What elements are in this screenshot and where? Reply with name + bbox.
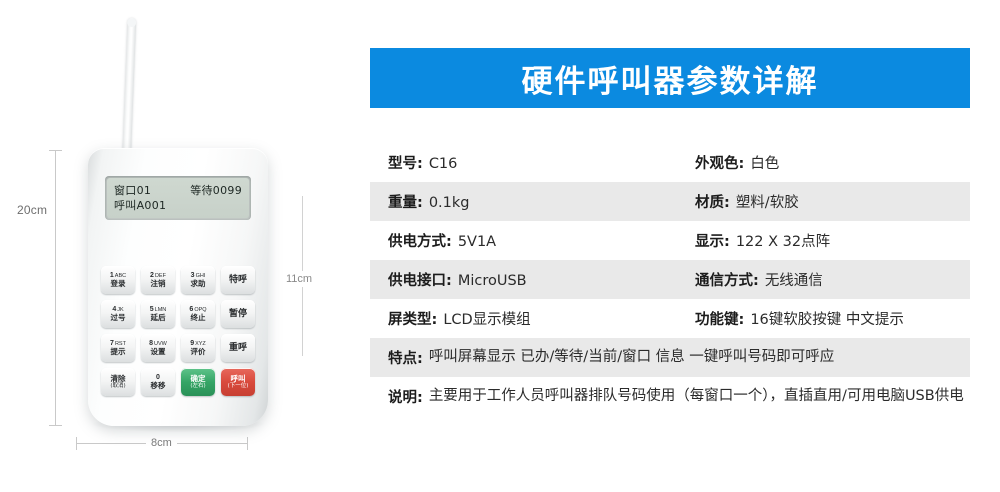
spec-row: 重量:0.1kg材质:塑料/软胶 [370,182,970,221]
height-dimension-line [55,150,56,425]
key-过号[interactable]: 4JK过号 [101,300,135,328]
key-重呼[interactable]: 重呼 [221,334,255,362]
spec-3-right-value: 无线通信 [765,269,823,290]
spec-1-right-value: 塑料/软胶 [736,191,799,212]
key-确定[interactable]: 确定(左右) [181,368,215,396]
spec-2-left: 供电方式:5V1A [388,230,695,251]
key-呼叫[interactable]: 呼叫(下一位) [221,368,255,396]
spec-3-left: 供电接口:MicroUSB [388,269,695,290]
spec-2-right-value: 122 X 32点阵 [736,230,830,251]
spec-3-left-value: MicroUSB [458,273,527,289]
spec-3-left-label: 供电接口: [388,269,452,290]
spec-1-right-label: 材质: [695,191,730,212]
height-dimension-tick-bottom [49,425,62,426]
key-label: 注销 [151,279,166,288]
spec-row-description: 说明:主要用于工作人员呼叫器排队号码使用（每窗口一个），直插直用/可用电脑USB… [370,377,970,433]
height-dimension-label: 20cm [14,201,50,219]
key-label: 特呼 [229,274,247,286]
spec-description-value: 主要用于工作人员呼叫器排队号码使用（每窗口一个），直插直用/可用电脑USB供电 [429,386,964,407]
key-label: 呼叫 [231,374,246,383]
key-设置[interactable]: 8UVW设置 [141,334,175,362]
spec-feature-label: 特点: [388,347,423,368]
spec-2-right-label: 显示: [695,230,730,251]
page-title: 硬件呼叫器参数详解 [522,56,819,101]
spec-description: 说明:主要用于工作人员呼叫器排队号码使用（每窗口一个），直插直用/可用电脑USB… [388,386,970,407]
antenna-cap [127,18,136,27]
width-dimension-tick-right [247,437,248,450]
spec-0-left: 型号:C16 [388,152,695,173]
spec-4-right-value: 16键软胶按键 中文提示 [750,308,904,329]
key-sublabel: (取消) [110,383,125,390]
spec-row-feature: 特点:呼叫屏幕显示 已办/等待/当前/窗口 信息 一键呼叫号码即可呼应 [370,338,970,377]
spec-4-left: 屏类型:LCD显示模组 [388,308,695,329]
spec-0-right-label: 外观色: [695,152,744,173]
spec-0-left-value: C16 [429,156,458,172]
key-label: 移移 [151,381,166,390]
spec-1-right: 材质:塑料/软胶 [695,191,970,212]
key-登录[interactable]: 1ABC登录 [101,266,135,294]
key-label: 重呼 [229,342,247,354]
lcd-screen-frame: 窗口01 等待0099 呼叫A001 [105,176,251,220]
depth-dimension-label: 11cm [283,271,315,287]
key-sublabel: (下一位) [228,383,249,390]
spec-feature: 特点:呼叫屏幕显示 已办/等待/当前/窗口 信息 一键呼叫号码即可呼应 [388,347,970,368]
key-移移[interactable]: 0移移 [141,368,175,396]
spec-4-left-value: LCD显示模组 [443,308,530,329]
spec-table: 型号:C16外观色:白色重量:0.1kg材质:塑料/软胶供电方式:5V1A显示:… [370,143,970,433]
key-label: 设置 [151,347,166,356]
key-终止[interactable]: 6OPQ终止 [181,300,215,328]
key-label: 过号 [111,313,126,322]
key-sublabel: (左右) [190,383,205,390]
key-label: 清除 [111,374,126,383]
spec-4-left-label: 屏类型: [388,308,437,329]
spec-2-right: 显示:122 X 32点阵 [695,230,970,251]
spec-3-right: 通信方式:无线通信 [695,269,970,290]
key-label: 登录 [111,279,126,288]
key-label: 提示 [111,347,126,356]
spec-0-right-value: 白色 [750,152,779,173]
key-延后[interactable]: 5LMN延后 [141,300,175,328]
key-label: 评价 [191,347,206,356]
spec-description-label: 说明: [388,386,423,407]
key-注销[interactable]: 2DEF注销 [141,266,175,294]
spec-2-left-label: 供电方式: [388,230,452,251]
lcd-line-1: 窗口01 等待0099 [114,184,242,197]
key-特呼[interactable]: 特呼 [221,266,255,294]
lcd-window-text: 窗口01 [114,184,151,197]
spec-panel: 硬件呼叫器参数详解 型号:C16外观色:白色重量:0.1kg材质:塑料/软胶供电… [370,0,970,492]
spec-1-left-value: 0.1kg [429,195,470,211]
spec-1-left: 重量:0.1kg [388,191,695,212]
lcd-calling-text: 呼叫A001 [114,199,166,212]
spec-row: 供电接口:MicroUSB通信方式:无线通信 [370,260,970,299]
width-dimension-label: 8cm [146,436,177,450]
key-label: 延后 [151,313,166,322]
key-评价[interactable]: 9XYZ评价 [181,334,215,362]
product-photo-panel: 20cm 11cm 8cm 窗口01 等待0099 呼叫A001 1ABC登录2… [0,0,350,492]
spec-2-left-value: 5V1A [458,234,496,250]
product-spec-page: 20cm 11cm 8cm 窗口01 等待0099 呼叫A001 1ABC登录2… [0,0,1000,492]
height-dimension-tick-top [49,150,62,151]
spec-4-right-label: 功能键: [695,308,744,329]
page-title-banner: 硬件呼叫器参数详解 [370,48,970,108]
spec-feature-value: 呼叫屏幕显示 已办/等待/当前/窗口 信息 一键呼叫号码即可呼应 [429,347,834,368]
key-label: 求助 [191,279,206,288]
spec-row: 供电方式:5V1A显示:122 X 32点阵 [370,221,970,260]
lcd-line-2: 呼叫A001 [114,199,242,212]
key-label: 确定 [191,374,206,383]
lcd-screen: 窗口01 等待0099 呼叫A001 [107,178,249,218]
spec-4-right: 功能键:16键软胶按键 中文提示 [695,308,970,329]
spec-row: 型号:C16外观色:白色 [370,143,970,182]
key-提示[interactable]: 7RST提示 [101,334,135,362]
spec-row: 屏类型:LCD显示模组功能键:16键软胶按键 中文提示 [370,299,970,338]
spec-0-right: 外观色:白色 [695,152,970,173]
key-label: 终止 [191,313,206,322]
spec-3-right-label: 通信方式: [695,269,759,290]
key-求助[interactable]: 3GHI求助 [181,266,215,294]
antenna [122,18,136,158]
lcd-waiting-text: 等待0099 [190,184,242,197]
key-label: 暂停 [229,308,247,320]
width-dimension-tick-left [76,437,77,450]
key-清除[interactable]: 清除(取消) [101,368,135,396]
spec-0-left-label: 型号: [388,152,423,173]
spec-1-left-label: 重量: [388,191,423,212]
keypad: 1ABC登录2DEF注销3GHI求助特呼4JK过号5LMN延后6OPQ终止暂停7… [101,266,255,396]
key-暂停[interactable]: 暂停 [221,300,255,328]
